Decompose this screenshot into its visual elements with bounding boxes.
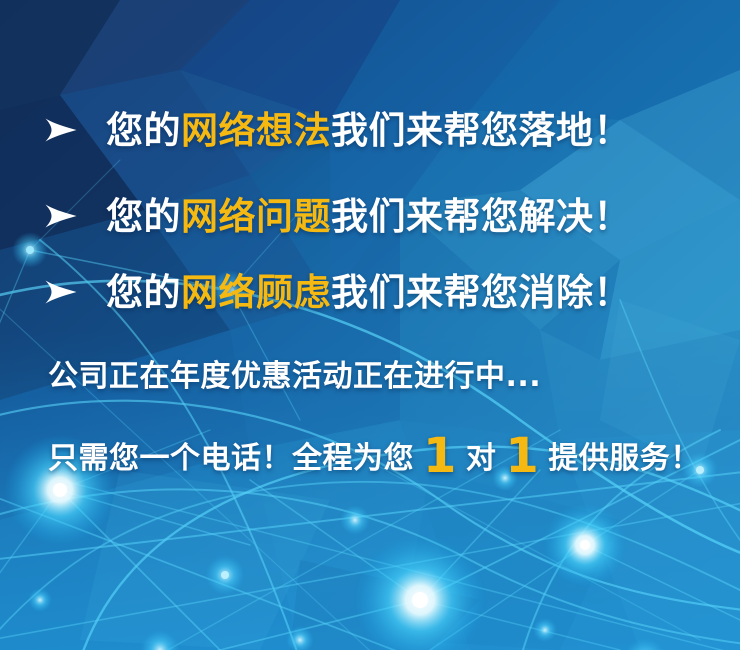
bullet-3-highlight: 网络顾虑 [181, 271, 331, 314]
bullet-1-highlight: 网络想法 [181, 109, 331, 152]
bullet-3-prefix: 您的 [106, 271, 181, 314]
bullet-line-2: 您的网络问题我们来帮您解决！ [44, 190, 631, 242]
promo-text: 公司正在年度优惠活动正在进行中... [48, 362, 541, 392]
service-part-3: 提供服务！ [548, 444, 701, 474]
service-part-2: 对 [466, 444, 497, 474]
service-number-1: 1 [414, 432, 466, 480]
bullet-1-suffix: 我们来帮您落地！ [331, 109, 631, 152]
bullet-2-prefix: 您的 [106, 195, 181, 238]
bullet-text-2: 您的网络问题我们来帮您解决！ [106, 198, 631, 235]
service-part-1: 只需您一个电话！全程为您 [48, 444, 414, 474]
bullet-2-suffix: 我们来帮您解决！ [331, 195, 631, 238]
bullet-text-3: 您的网络顾虑我们来帮您消除！ [106, 274, 631, 311]
bullet-3-suffix: 我们来帮您消除！ [331, 271, 631, 314]
bullet-1-prefix: 您的 [106, 109, 181, 152]
arrow-right-icon [44, 117, 78, 143]
arrow-right-icon [44, 203, 78, 229]
arrow-right-icon [44, 279, 78, 305]
bullet-line-3: 您的网络顾虑我们来帮您消除！ [44, 266, 631, 318]
service-text: 只需您一个电话！全程为您 1 对 1 提供服务！ [48, 428, 701, 476]
promo-banner: 您的网络想法我们来帮您落地！ 您的网络问题我们来帮您解决！ 您的网络顾虑我们来帮… [0, 0, 740, 650]
bullet-text-1: 您的网络想法我们来帮您落地！ [106, 112, 631, 149]
bullet-line-1: 您的网络想法我们来帮您落地！ [44, 104, 631, 156]
bullet-2-highlight: 网络问题 [181, 195, 331, 238]
service-number-2: 1 [496, 432, 548, 480]
